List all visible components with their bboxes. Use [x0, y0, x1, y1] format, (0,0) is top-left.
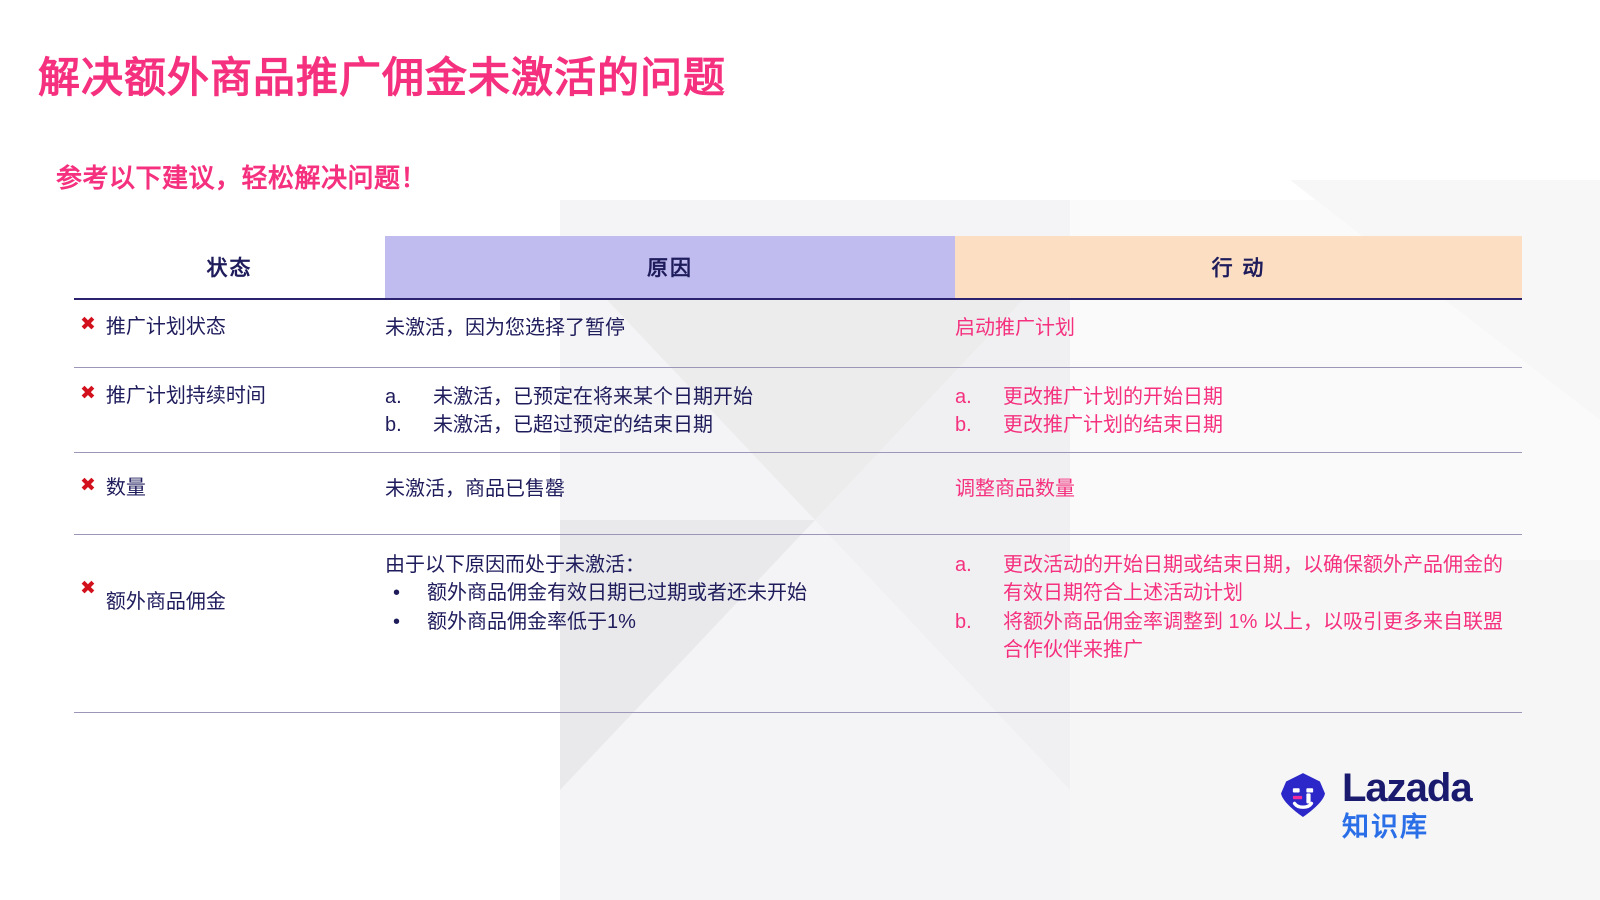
issue-resolution-table: 状态 原因 行 动 ✖ 推广计划状态 未激活，因为您选择了暂停 启动推广计划: [74, 236, 1522, 713]
lazada-heart-icon: [1276, 768, 1330, 822]
list-marker: b.: [955, 411, 1003, 439]
list-text: 更改推广计划的结束日期: [1003, 411, 1512, 439]
action-cell: 调整商品数量: [955, 475, 1522, 503]
reason-lead-text: 由于以下原因而处于未激活：: [385, 551, 941, 579]
slide-root: 解决额外商品推广佣金未激活的问题 参考以下建议，轻松解决问题！ 状态 原因 行 …: [0, 0, 1600, 900]
list-item: a. 更改活动的开始日期或结束日期，以确保额外产品佣金的有效日期符合上述活动计划: [955, 551, 1512, 608]
list-text: 更改活动的开始日期或结束日期，以确保额外产品佣金的有效日期符合上述活动计划: [1003, 551, 1512, 608]
action-cell: 启动推广计划: [955, 314, 1522, 342]
column-header-action-label: 行 动: [1212, 252, 1266, 282]
action-text: 调整商品数量: [955, 475, 1512, 503]
status-label: 推广计划状态: [106, 314, 226, 341]
reason-cell: 未激活，商品已售罄: [385, 475, 955, 503]
reason-cell: 未激活，因为您选择了暂停: [385, 314, 955, 342]
reason-cell: a. 未激活，已预定在将来某个日期开始 b. 未激活，已超过预定的结束日期: [385, 383, 955, 440]
list-item: b. 更改推广计划的结束日期: [955, 411, 1512, 439]
table-row: ✖ 数量 未激活，商品已售罄 调整商品数量: [74, 453, 1522, 535]
x-mark-icon: ✖: [80, 476, 96, 495]
bullet-icon: •: [385, 579, 427, 607]
status-cell: ✖ 额外商品佣金: [74, 551, 385, 616]
column-header-reason-label: 原因: [647, 252, 693, 282]
list-marker: b.: [385, 411, 433, 439]
table-row: ✖ 推广计划状态 未激活，因为您选择了暂停 启动推广计划: [74, 298, 1522, 368]
reason-text: 未激活，商品已售罄: [385, 475, 941, 503]
x-mark-icon: ✖: [80, 315, 96, 334]
action-list: a. 更改推广计划的开始日期 b. 更改推广计划的结束日期: [955, 383, 1512, 440]
lazada-logo: Lazada 知识库: [1276, 768, 1472, 843]
list-item: b. 将额外商品佣金率调整到 1% 以上，以吸引更多来自联盟合作伙伴来推广: [955, 608, 1512, 665]
column-header-status: 状态: [74, 236, 385, 298]
reason-bullet-list: • 额外商品佣金有效日期已过期或者还未开始 • 额外商品佣金率低于1%: [385, 579, 941, 636]
list-text: 未激活，已预定在将来某个日期开始: [433, 383, 941, 411]
list-item: • 额外商品佣金有效日期已过期或者还未开始: [385, 579, 941, 607]
status-cell: ✖ 推广计划持续时间: [74, 383, 385, 410]
status-cell: ✖ 推广计划状态: [74, 314, 385, 341]
x-mark-icon: ✖: [80, 384, 96, 403]
action-cell: a. 更改推广计划的开始日期 b. 更改推广计划的结束日期: [955, 383, 1522, 440]
action-list: a. 更改活动的开始日期或结束日期，以确保额外产品佣金的有效日期符合上述活动计划…: [955, 551, 1512, 665]
list-text: 未激活，已超过预定的结束日期: [433, 411, 941, 439]
status-label: 数量: [106, 475, 146, 502]
list-text: 额外商品佣金有效日期已过期或者还未开始: [427, 579, 941, 607]
table-row: ✖ 额外商品佣金 由于以下原因而处于未激活： • 额外商品佣金有效日期已过期或者…: [74, 535, 1522, 713]
table-row: ✖ 推广计划持续时间 a. 未激活，已预定在将来某个日期开始 b. 未激活，已超…: [74, 368, 1522, 453]
bullet-icon: •: [385, 608, 427, 636]
list-marker: a.: [955, 551, 1003, 579]
list-item: a. 更改推广计划的开始日期: [955, 383, 1512, 411]
list-text: 将额外商品佣金率调整到 1% 以上，以吸引更多来自联盟合作伙伴来推广: [1003, 608, 1512, 665]
reason-list: a. 未激活，已预定在将来某个日期开始 b. 未激活，已超过预定的结束日期: [385, 383, 941, 440]
page-subtitle: 参考以下建议，轻松解决问题！: [56, 158, 427, 195]
list-text: 更改推广计划的开始日期: [1003, 383, 1512, 411]
logo-wordmark: Lazada: [1342, 768, 1472, 808]
list-marker: a.: [955, 383, 1003, 411]
list-item: b. 未激活，已超过预定的结束日期: [385, 411, 941, 439]
action-cell: a. 更改活动的开始日期或结束日期，以确保额外产品佣金的有效日期符合上述活动计划…: [955, 551, 1522, 665]
list-text: 额外商品佣金率低于1%: [427, 608, 941, 636]
logo-subtitle: 知识库: [1342, 812, 1472, 843]
list-marker: b.: [955, 608, 1003, 636]
reason-cell: 由于以下原因而处于未激活： • 额外商品佣金有效日期已过期或者还未开始 • 额外…: [385, 551, 955, 636]
list-item: • 额外商品佣金率低于1%: [385, 608, 941, 636]
x-mark-icon: ✖: [80, 579, 96, 598]
table-header-row: 状态 原因 行 动: [74, 236, 1522, 298]
logo-text-block: Lazada 知识库: [1342, 768, 1472, 843]
column-header-action: 行 动: [955, 236, 1522, 298]
page-title: 解决额外商品推广佣金未激活的问题: [38, 44, 726, 105]
status-label: 推广计划持续时间: [106, 383, 266, 410]
column-header-status-label: 状态: [207, 252, 253, 282]
list-item: a. 未激活，已预定在将来某个日期开始: [385, 383, 941, 411]
column-header-reason: 原因: [385, 236, 955, 298]
list-marker: a.: [385, 383, 433, 411]
status-cell: ✖ 数量: [74, 475, 385, 502]
status-label: 额外商品佣金: [106, 589, 226, 616]
action-text: 启动推广计划: [955, 314, 1512, 342]
reason-text: 未激活，因为您选择了暂停: [385, 314, 941, 342]
